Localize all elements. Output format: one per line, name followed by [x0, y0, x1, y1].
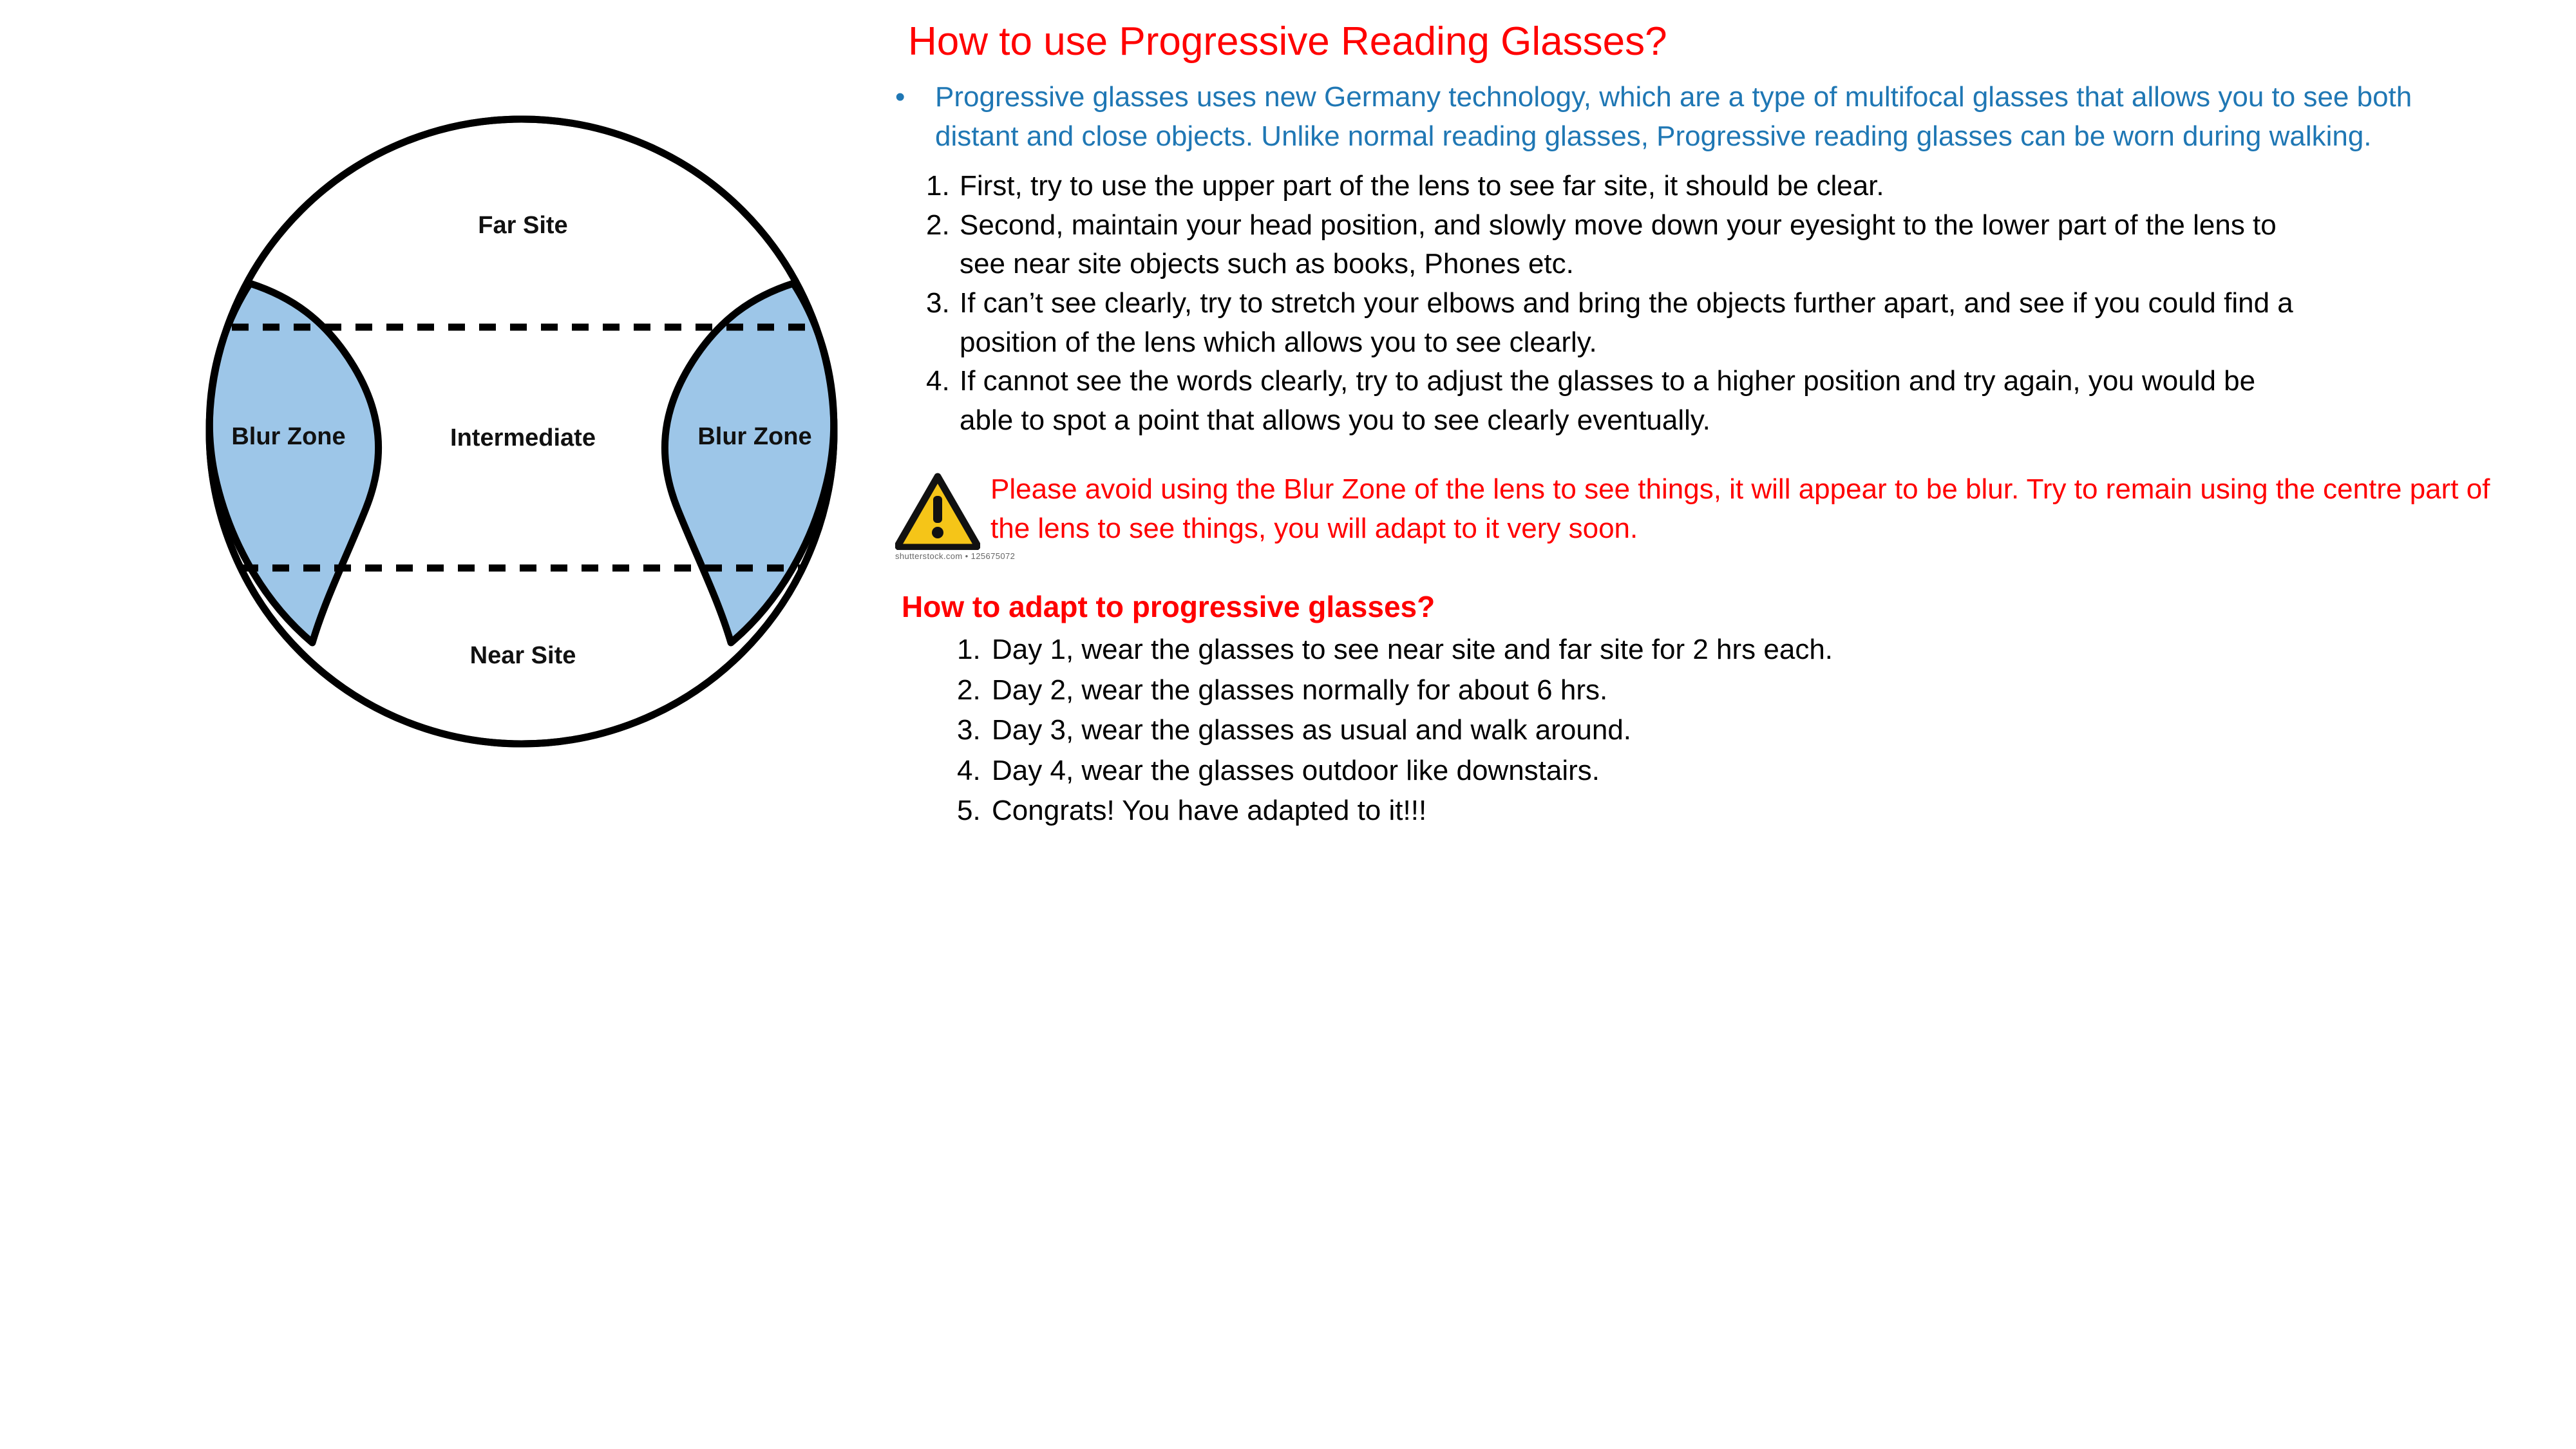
list-item: 4. Day 4, wear the glasses outdoor like … [895, 751, 2544, 791]
list-item: 1. First, try to use the upper part of t… [895, 167, 2544, 206]
day-text: Day 2, wear the glasses normally for abo… [992, 670, 1607, 710]
step-number: 3. [895, 284, 960, 362]
day-text: Congrats! You have adapted to it!!! [992, 791, 1426, 831]
intro-paragraph: Progressive glasses uses new Germany tec… [935, 78, 2474, 156]
list-item: 1. Day 1, wear the glasses to see near s… [895, 630, 2544, 670]
watermark-text: shutterstock.com • 125675072 [895, 551, 980, 561]
step-text: Second, maintain your head position, and… [960, 206, 2306, 284]
list-item: 2. Day 2, wear the glasses normally for … [895, 670, 2544, 710]
warning-triangle-icon: shutterstock.com • 125675072 [895, 471, 990, 561]
adapt-section-title: How to adapt to progressive glasses? [902, 589, 2544, 625]
day-text: Day 3, wear the glasses as usual and wal… [992, 710, 1631, 750]
usage-steps-list: 1. First, try to use the upper part of t… [895, 167, 2544, 440]
progressive-lens-zones-diagram: Far Site Intermediate Near Site Blur Zon… [193, 90, 876, 773]
day-number: 2. [895, 670, 992, 710]
step-number: 2. [895, 206, 960, 284]
page-title: How to use Progressive Reading Glasses? [908, 19, 2544, 64]
adapt-days-list: 1. Day 1, wear the glasses to see near s… [895, 630, 2544, 831]
intro-bullet: • Progressive glasses uses new Germany t… [895, 78, 2544, 156]
label-near-site: Near Site [470, 642, 576, 669]
list-item: 3. Day 3, wear the glasses as usual and … [895, 710, 2544, 750]
warning-text: Please avoid using the Blur Zone of the … [990, 468, 2536, 548]
label-far-site: Far Site [478, 212, 567, 239]
label-intermediate: Intermediate [450, 424, 596, 451]
warning-callout: shutterstock.com • 125675072 Please avoi… [895, 468, 2544, 561]
list-item: 2. Second, maintain your head position, … [895, 206, 2544, 284]
step-text: First, try to use the upper part of the … [960, 167, 1884, 206]
step-text: If can’t see clearly, try to stretch you… [960, 284, 2306, 362]
list-item: 4. If cannot see the words clearly, try … [895, 362, 2544, 440]
step-number: 1. [895, 167, 960, 206]
label-blur-zone-left: Blur Zone [231, 423, 345, 450]
content-column: How to use Progressive Reading Glasses? … [895, 19, 2544, 831]
day-number: 3. [895, 710, 992, 750]
day-number: 4. [895, 751, 992, 791]
day-number: 1. [895, 630, 992, 670]
bullet-dot-icon: • [895, 78, 935, 156]
step-text: If cannot see the words clearly, try to … [960, 362, 2306, 440]
day-text: Day 1, wear the glasses to see near site… [992, 630, 1833, 670]
day-number: 5. [895, 791, 992, 831]
step-number: 4. [895, 362, 960, 440]
list-item: 5. Congrats! You have adapted to it!!! [895, 791, 2544, 831]
label-blur-zone-right: Blur Zone [697, 423, 811, 450]
day-text: Day 4, wear the glasses outdoor like dow… [992, 751, 1600, 791]
list-item: 3. If can’t see clearly, try to stretch … [895, 284, 2544, 362]
slide-root: Far Site Intermediate Near Site Blur Zon… [0, 0, 2576, 1449]
